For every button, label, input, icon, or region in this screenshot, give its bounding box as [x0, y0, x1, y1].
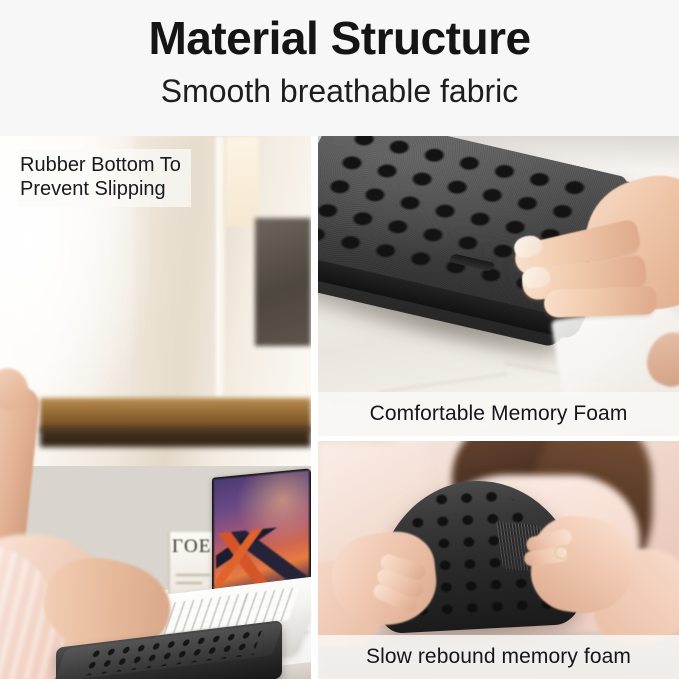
- ring-finger: [544, 286, 657, 318]
- slow-rebound-caption-band: Slow rebound memory foam: [318, 635, 679, 679]
- rubber-bottom-label-line1: Rubber Bottom To: [20, 153, 181, 177]
- wall-frame: [255, 218, 311, 346]
- panel-memory-foam: Comfortable Memory Foam: [318, 136, 679, 436]
- panel-rubber-bottom: ГOE: [0, 136, 311, 679]
- rubber-bottom-label-line2: Prevent Slipping: [20, 177, 181, 201]
- wall-edge: [216, 136, 225, 398]
- wood-shelf-shadow: [40, 427, 311, 447]
- page-title: Material Structure: [148, 12, 530, 65]
- memory-foam-caption: Comfortable Memory Foam: [370, 402, 628, 426]
- wall-column: [225, 136, 259, 226]
- memory-foam-scene-photo: [318, 136, 679, 436]
- product-infographic: Material Structure Smooth breathable fab…: [0, 0, 679, 679]
- slow-rebound-caption: Slow rebound memory foam: [366, 645, 631, 669]
- panel-grid: ГOE: [0, 136, 679, 679]
- finger-ring: [554, 545, 569, 560]
- book-line: [176, 574, 210, 576]
- memory-foam-caption-band: Comfortable Memory Foam: [318, 392, 679, 436]
- header-banner: Material Structure Smooth breathable fab…: [0, 0, 679, 136]
- left-scene-photo: ГOE: [0, 136, 311, 679]
- page-subtitle: Smooth breathable fabric: [161, 72, 519, 110]
- panel-slow-rebound: Slow rebound memory foam: [318, 441, 679, 679]
- book-line: [176, 582, 202, 584]
- rubber-bottom-label: Rubber Bottom To Prevent Slipping: [18, 149, 191, 207]
